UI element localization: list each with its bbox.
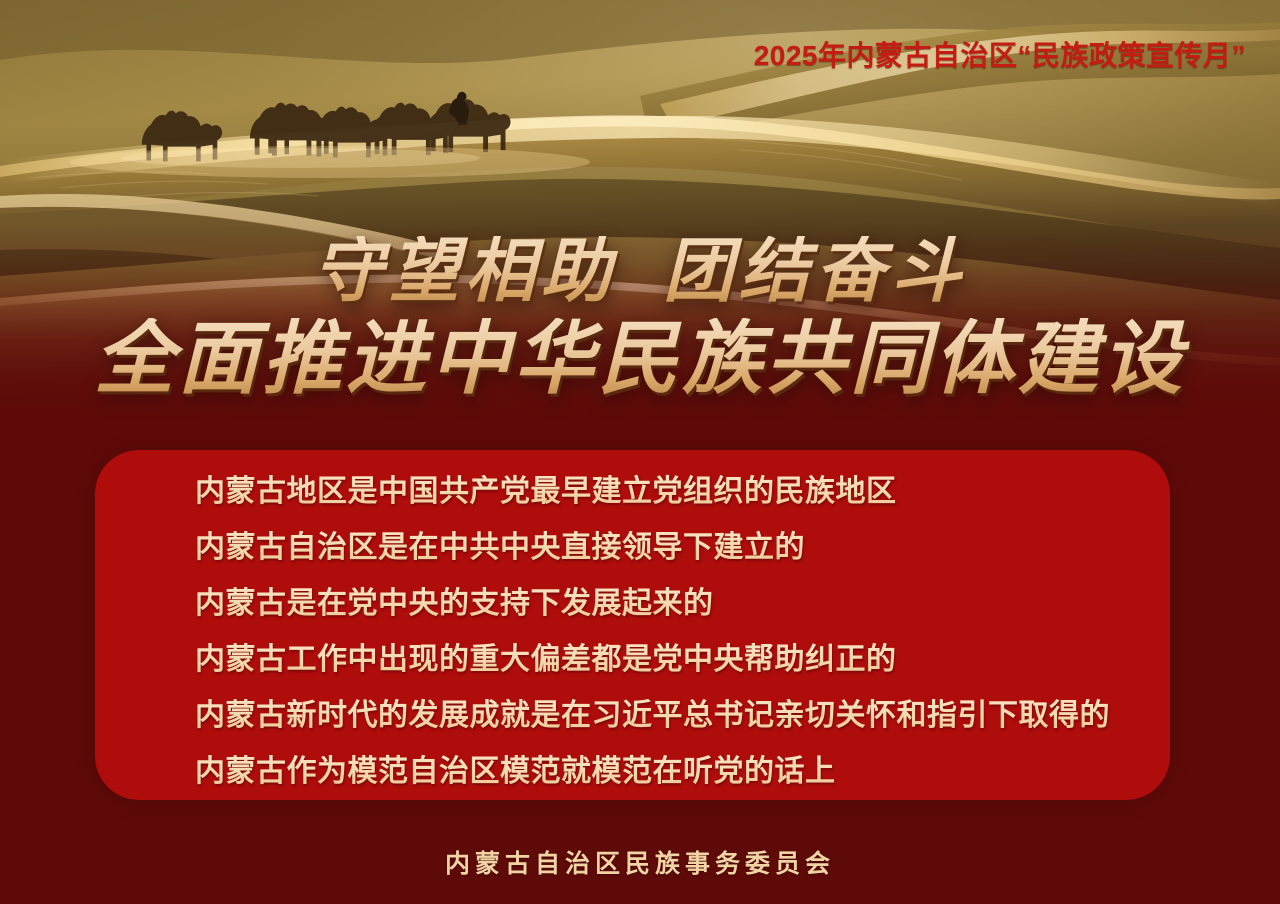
list-item: 内蒙古作为模范自治区模范就模范在听党的话上 [195,744,1130,800]
list-item: 内蒙古自治区是在中共中央直接领导下建立的 [195,520,1130,576]
statements-list: 内蒙古地区是中国共产党最早建立党组织的民族地区 内蒙古自治区是在中共中央直接领导… [195,464,1130,800]
campaign-header-title: 2025年内蒙古自治区“民族政策宣传月” [754,34,1246,74]
list-item: 内蒙古地区是中国共产党最早建立党组织的民族地区 [195,464,1130,520]
main-title-phrase-1: 守望相助 [313,229,617,312]
footer: 内蒙古自治区民族事务委员会 [0,844,1280,880]
poster-root: 2025年内蒙古自治区“民族政策宣传月” 守望相助团结奋斗 全面推进中华民族共同… [0,0,1280,904]
list-item: 内蒙古是在党中央的支持下发展起来的 [195,576,1130,632]
main-title-phrase-2: 团结奋斗 [663,229,967,312]
main-title-line-1: 守望相助团结奋斗 [0,236,1280,306]
issuing-organization: 内蒙古自治区民族事务委员会 [445,844,835,880]
list-item: 内蒙古新时代的发展成就是在习近平总书记亲切关怀和指引下取得的 [195,688,1130,744]
statements-panel: 内蒙古地区是中国共产党最早建立党组织的民族地区 内蒙古自治区是在中共中央直接领导… [95,450,1170,800]
main-title-block: 守望相助团结奋斗 全面推进中华民族共同体建设 [0,236,1280,398]
list-item: 内蒙古工作中出现的重大偏差都是党中央帮助纠正的 [195,632,1130,688]
main-title-line-2: 全面推进中华民族共同体建设 [0,318,1280,398]
